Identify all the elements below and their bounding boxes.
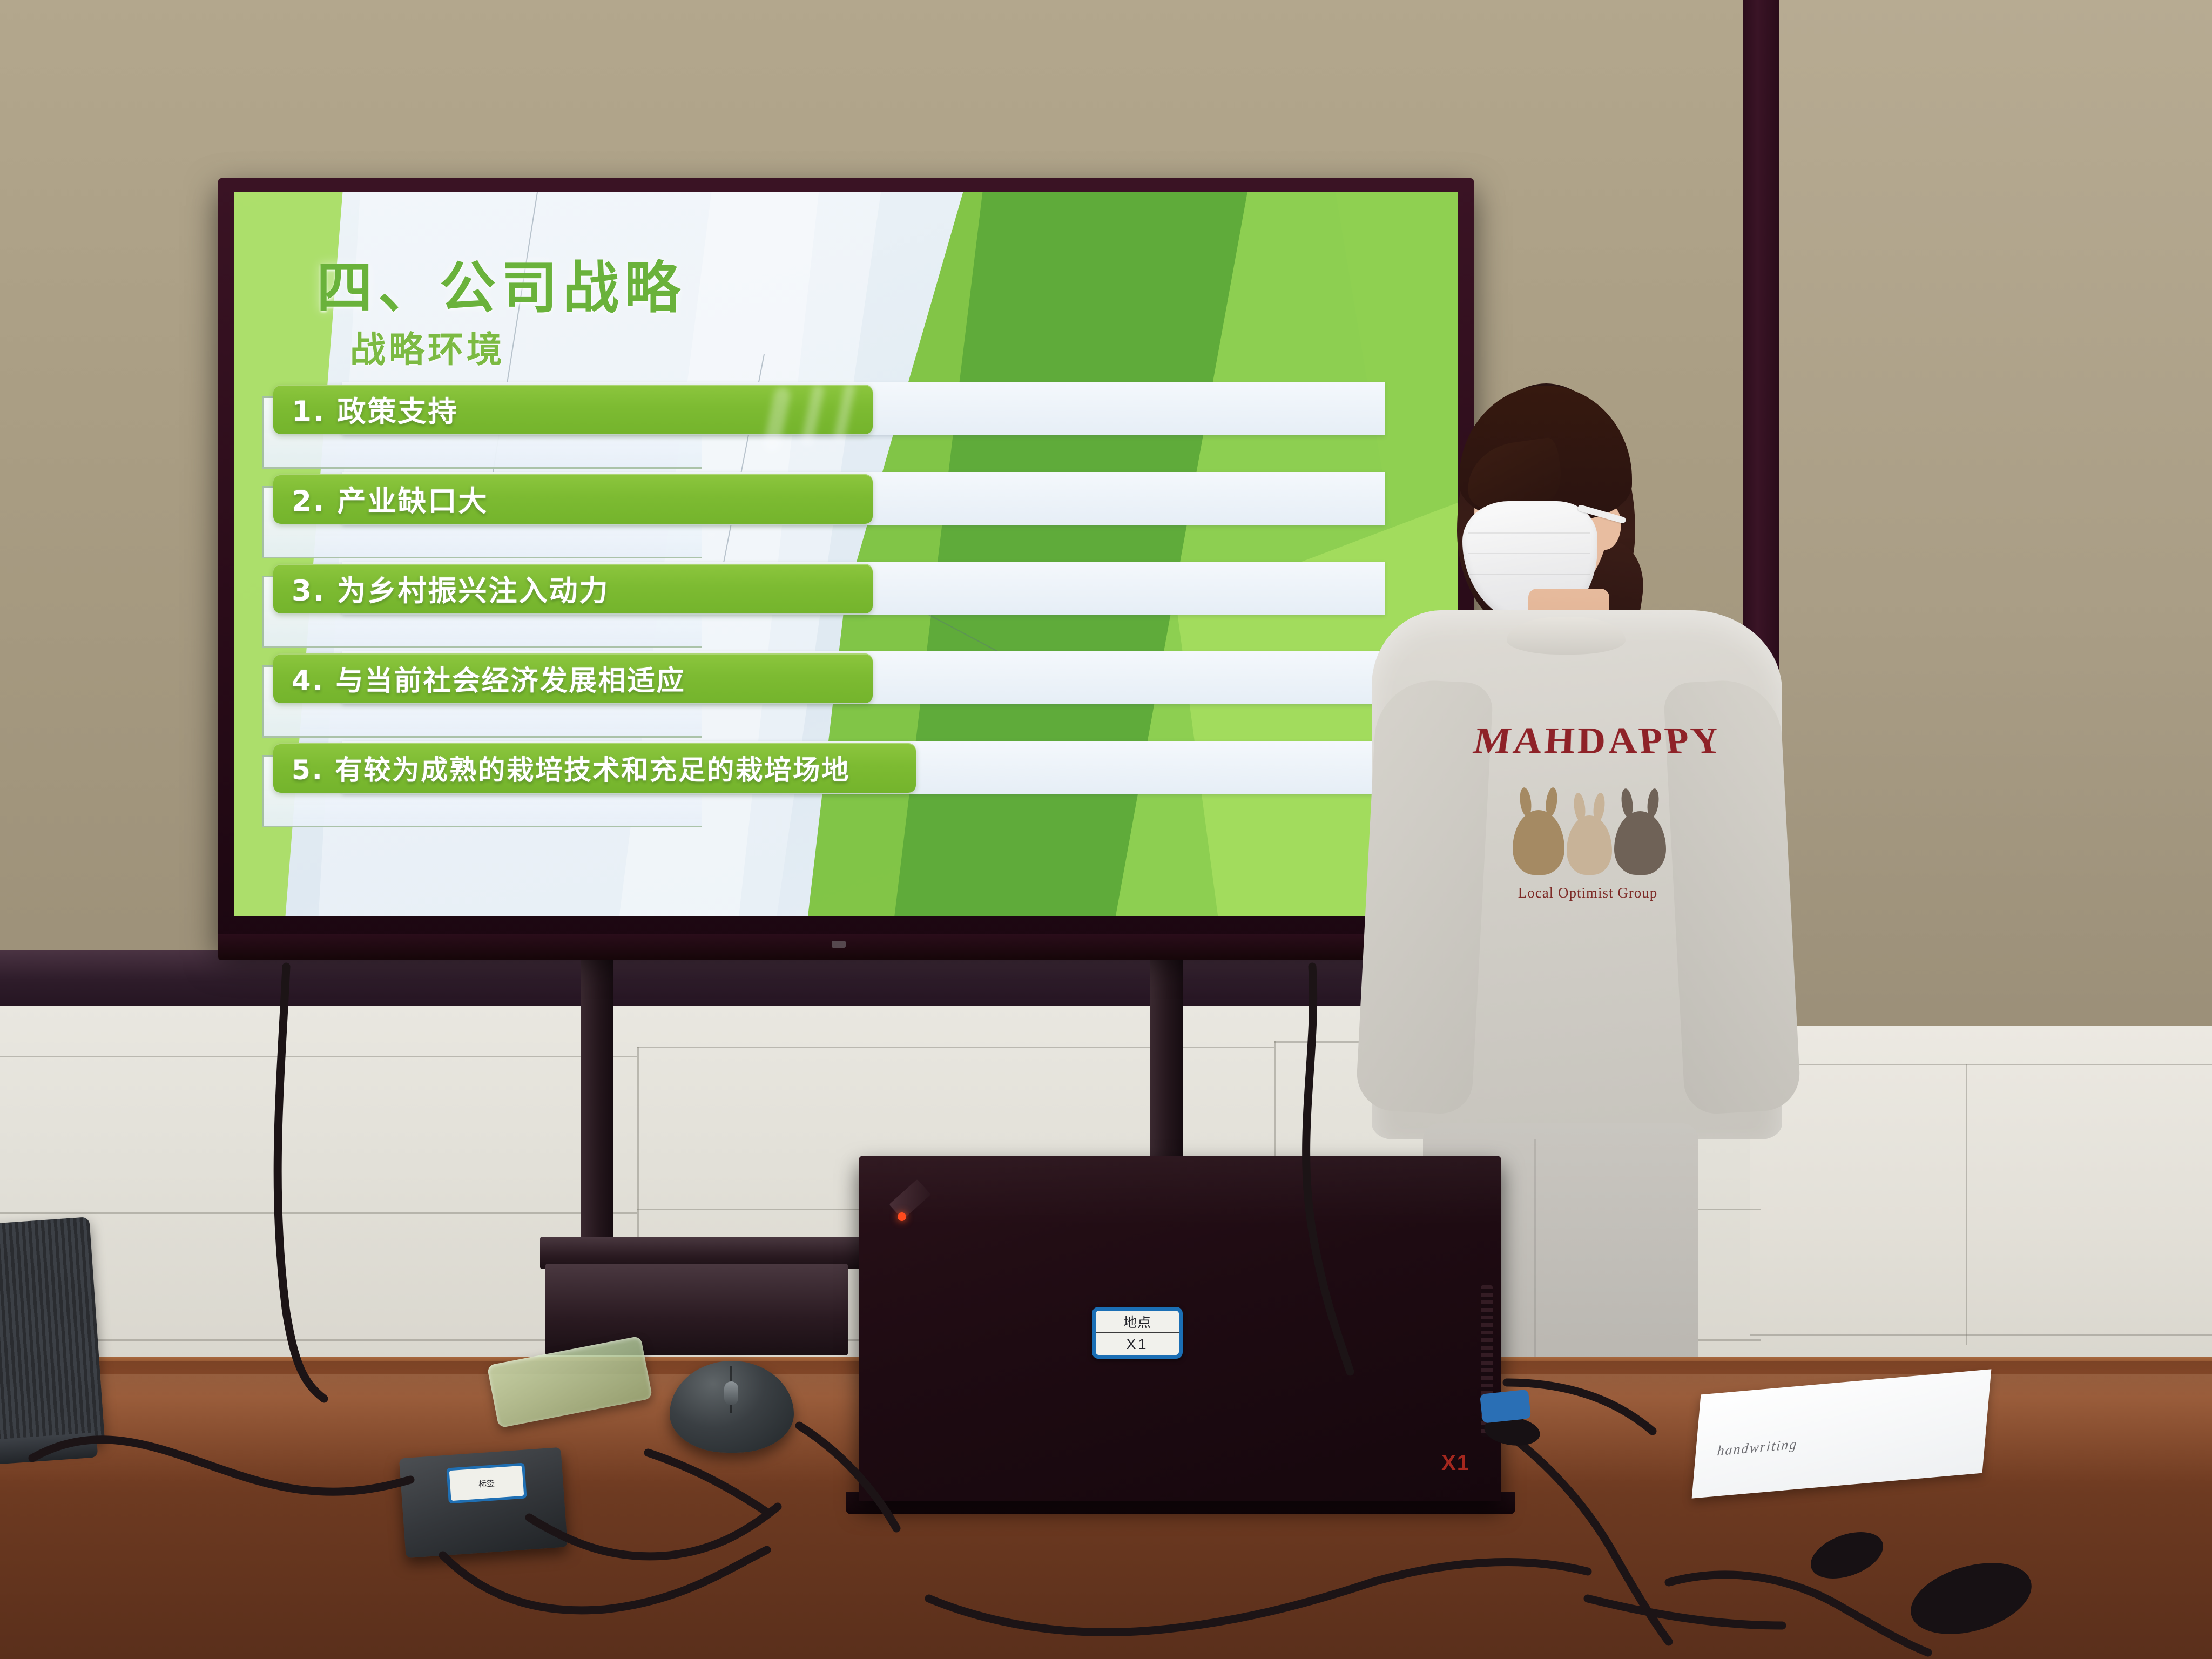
adapter-label: 标签 [446, 1463, 527, 1504]
collar [1507, 617, 1626, 655]
bullet-label-2: 2. 产业缺口大 [273, 478, 488, 520]
rabbit-graphic [1512, 775, 1666, 875]
tv-screen: 四、公司战略 战略环境 1. 政策支持 2. 产业缺口大 [234, 192, 1458, 916]
tv-lower-bezel [218, 934, 1474, 960]
slide-bullet-row: 5. 有较为成熟的栽培技术和充足的栽培场地 [234, 741, 1458, 831]
laptop-lid-sheen [859, 1156, 1501, 1226]
adapter-label-text: 标签 [449, 1466, 524, 1501]
tv-stand-base [545, 1264, 848, 1355]
laptop-vent [1481, 1285, 1493, 1437]
slide-bullet-row: 1. 政策支持 [234, 382, 1458, 472]
tile-grout-line [0, 1056, 637, 1057]
pants-seam [1534, 1139, 1536, 1366]
slide-bullet-row: 2. 产业缺口大 [234, 472, 1458, 562]
sweatshirt-graphic: MAHDAPPY Local Optimist Group [1474, 718, 1701, 934]
tv-ir-sensor [832, 941, 846, 948]
rabbit-icon [1513, 810, 1564, 875]
sweatshirt-tagline: Local Optimist Group [1474, 885, 1701, 901]
tile-grout-line [0, 1212, 637, 1214]
asset-label-line-2: X1 [1096, 1333, 1179, 1355]
sweatshirt-brand-text: MAHDAPPY [1470, 720, 1706, 763]
laptop-lid[interactable]: 地点 X1 X1 [859, 1156, 1501, 1501]
bullet-pill-4: 4. 与当前社会经济发展相适应 [273, 653, 873, 703]
bullet-label-3: 3. 为乡村振兴注入动力 [273, 568, 609, 609]
tile-grout-line [1750, 1334, 2212, 1336]
bullet-label-5: 5. 有较为成熟的栽培技术和充足的栽培场地 [273, 748, 850, 787]
x1-brand-mark: X1 [1441, 1451, 1470, 1475]
paper-handwriting: handwriting [1716, 1436, 1798, 1459]
tile-grout-line [1966, 1064, 1967, 1345]
slide-bullet-row: 4. 与当前社会经济发展相适应 [234, 651, 1458, 741]
tv-bezel: 四、公司战略 战略环境 1. 政策支持 2. 产业缺口大 [218, 178, 1474, 948]
powerpoint-slide: 四、公司战略 战略环境 1. 政策支持 2. 产业缺口大 [234, 192, 1458, 916]
asset-label-line-1: 地点 [1096, 1311, 1179, 1333]
sleeve-left [1355, 678, 1494, 1115]
tile-grout-line [1750, 1064, 2212, 1065]
conference-room-scene: 四、公司战略 战略环境 1. 政策支持 2. 产业缺口大 [0, 0, 2212, 1659]
bullet-pill-1: 1. 政策支持 [273, 385, 873, 434]
bullet-label-1: 1. 政策支持 [273, 389, 458, 430]
bullet-pill-5: 5. 有较为成熟的栽培技术和充足的栽培场地 [273, 743, 916, 793]
laptop-asset-label: 地点 X1 [1092, 1307, 1183, 1359]
power-adapter[interactable]: 标签 [399, 1447, 568, 1558]
rabbit-icon [1614, 811, 1666, 875]
upper-wall-right [1777, 0, 2212, 1042]
slide-bullet-row: 3. 为乡村振兴注入动力 [234, 562, 1458, 651]
power-led-indicator [898, 1212, 906, 1221]
slide-title: 四、公司战略 [316, 242, 686, 323]
bullet-pill-3: 3. 为乡村振兴注入动力 [273, 564, 873, 613]
mouse-scroll-wheel[interactable] [724, 1381, 738, 1405]
office-chair-mesh-back [0, 1217, 105, 1451]
rabbit-icon [1567, 815, 1612, 875]
bullet-pill-2: 2. 产业缺口大 [273, 474, 873, 524]
slide-subtitle: 战略环境 [350, 321, 505, 373]
slide-bullet-list: 1. 政策支持 2. 产业缺口大 3. 为乡村 [234, 382, 1458, 901]
bullet-label-4: 4. 与当前社会经济发展相适应 [273, 658, 686, 698]
